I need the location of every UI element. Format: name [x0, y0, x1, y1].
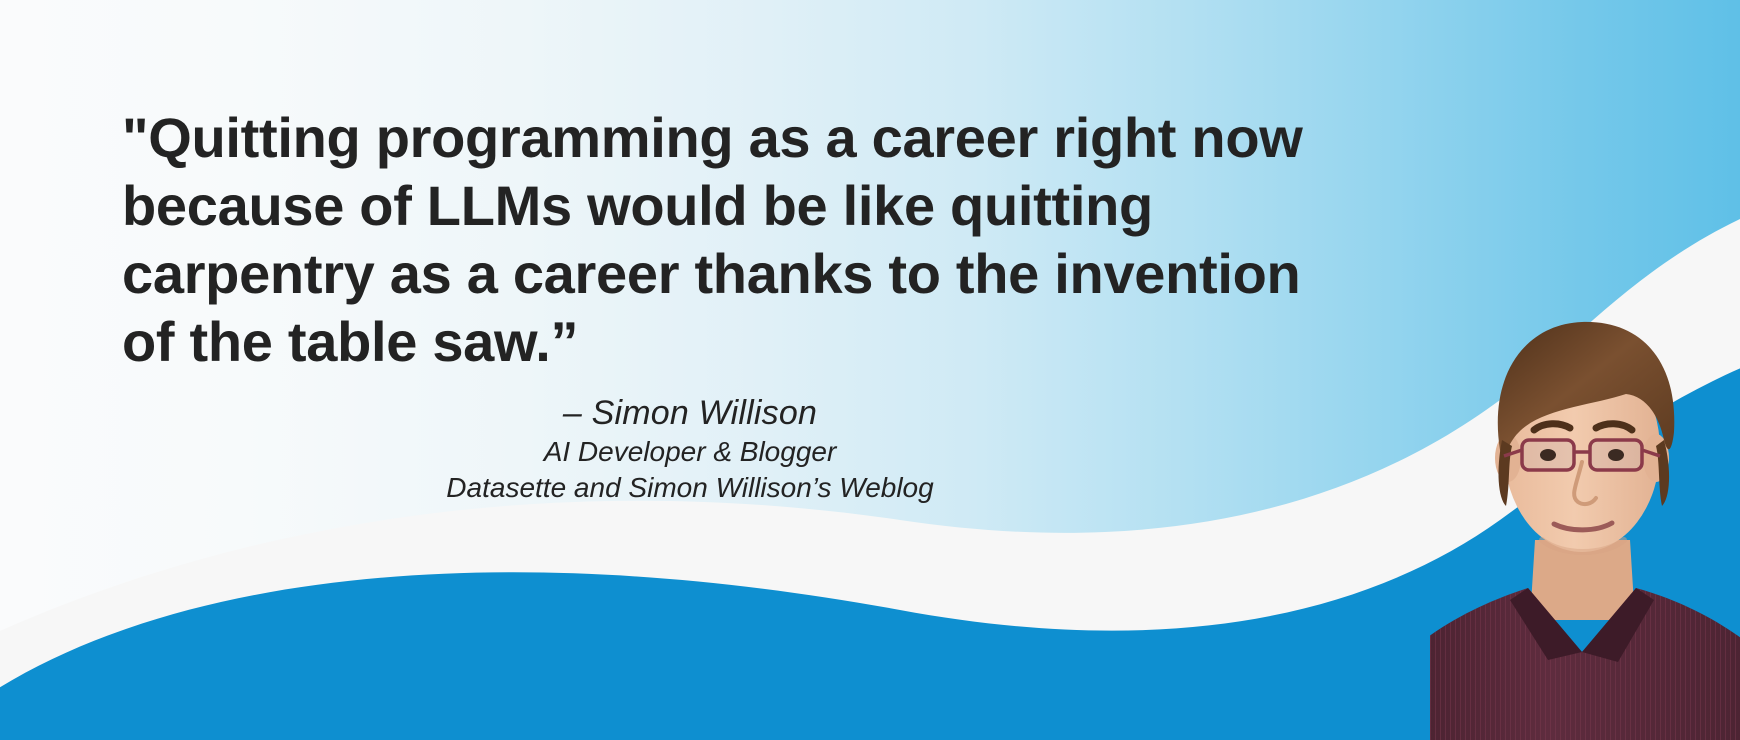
attribution-organization: Datasette and Simon Willison’s Weblog [250, 470, 1130, 506]
quote-slide: "Quitting programming as a career right … [0, 0, 1740, 740]
quote-block: "Quitting programming as a career right … [122, 104, 1322, 376]
attribution-block: – Simon Willison AI Developer & Blogger … [250, 392, 1130, 506]
quote-text: "Quitting programming as a career right … [122, 104, 1322, 376]
attribution-role: AI Developer & Blogger [250, 434, 1130, 470]
eye-left-shape [1540, 449, 1556, 461]
eye-right-shape [1608, 449, 1624, 461]
portrait-photo [1430, 300, 1740, 740]
attribution-name: – Simon Willison [250, 392, 1130, 434]
